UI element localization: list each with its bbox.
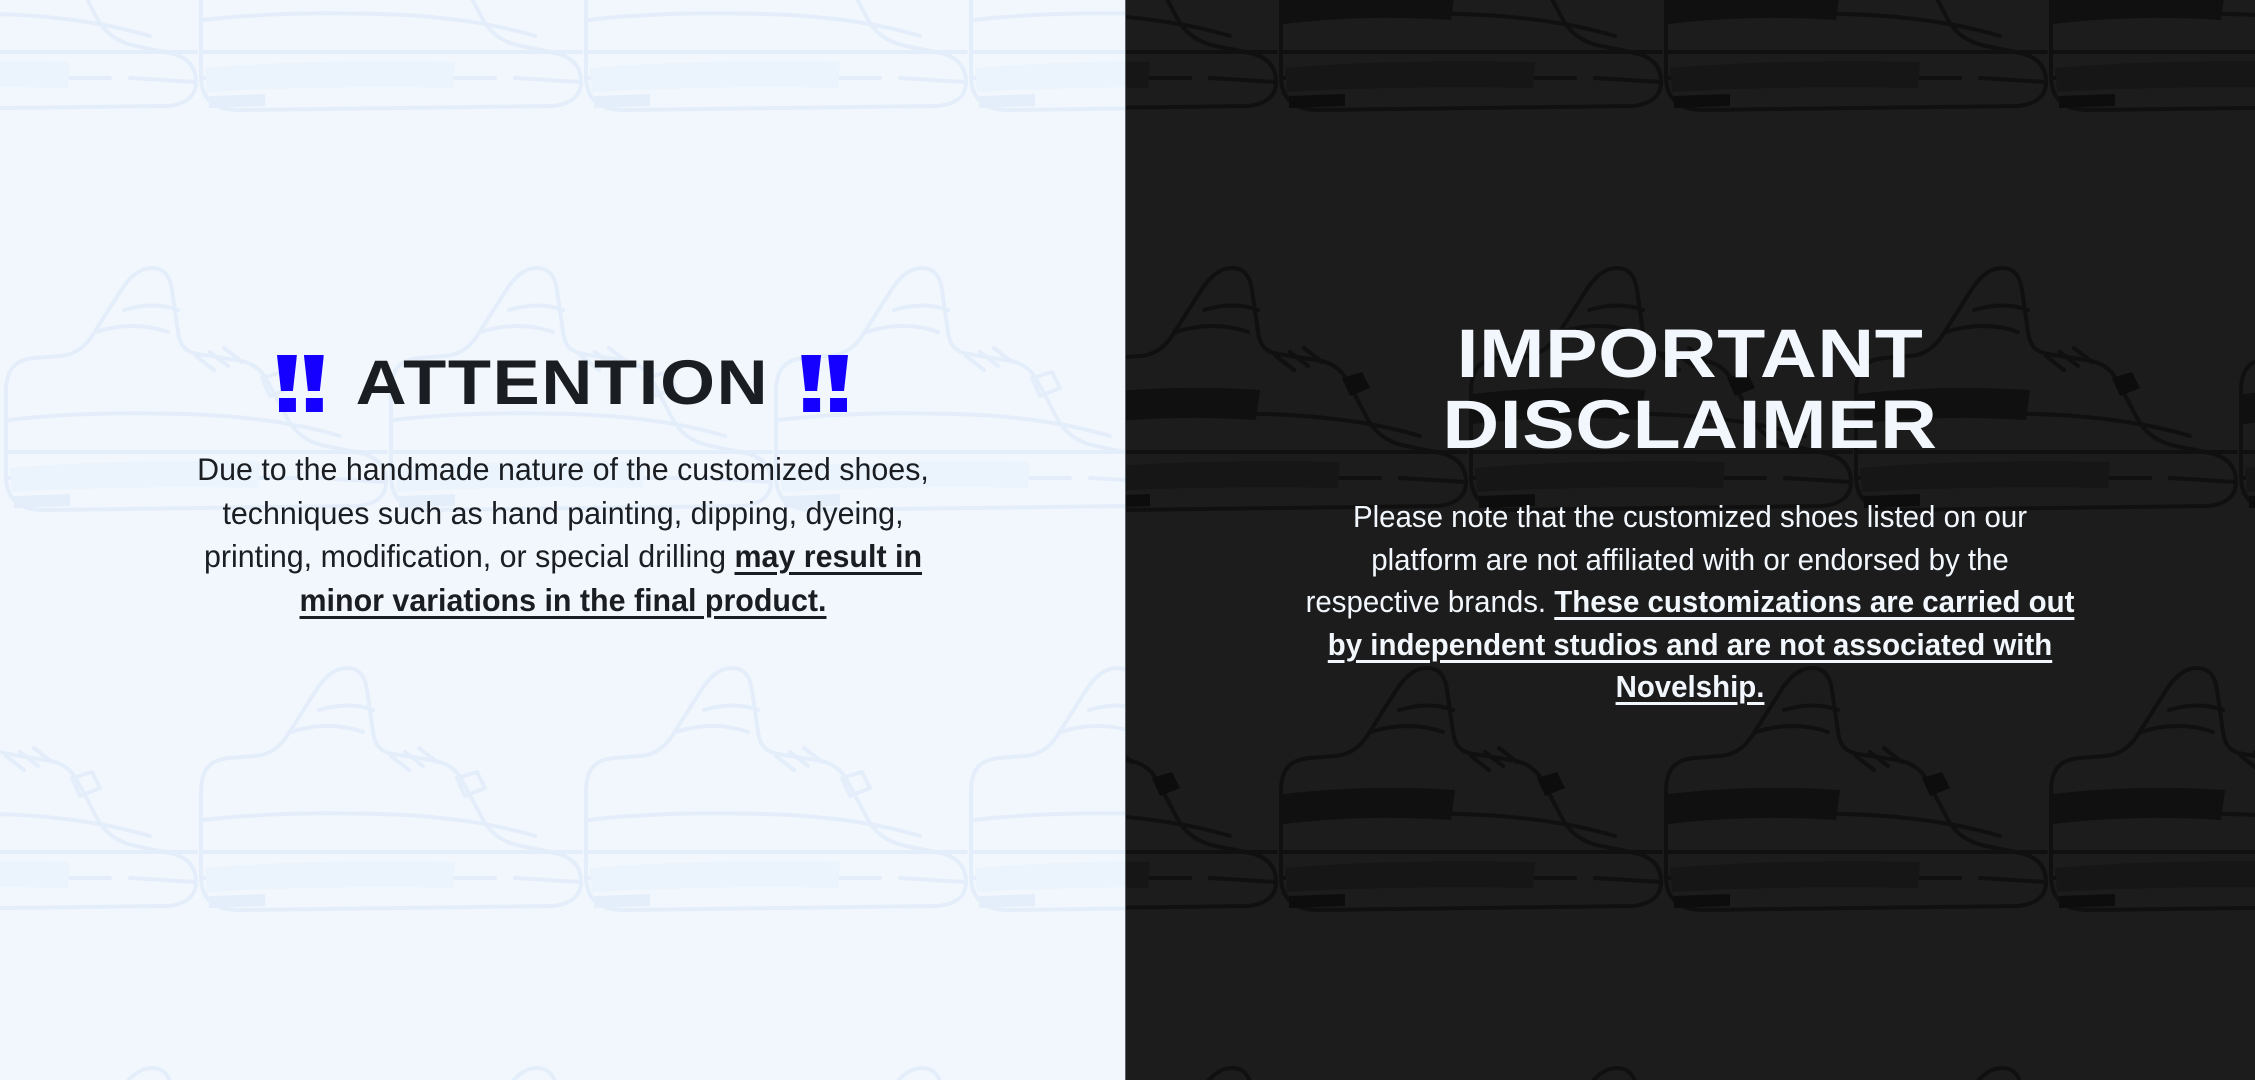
disclaimer-body: Please note that the customized shoes li… — [1304, 496, 2076, 709]
disclaimer-banner: ATTENTION Due to the handmade nature of … — [0, 0, 2255, 1080]
disclaimer-content: IMPORTANT DISCLAIMER Please note that th… — [1125, 0, 2255, 709]
attention-heading-text: ATTENTION — [356, 352, 770, 415]
double-exclamation-icon-right — [801, 355, 848, 412]
disclaimer-heading: IMPORTANT DISCLAIMER — [1125, 318, 2255, 460]
attention-panel: ATTENTION Due to the handmade nature of … — [0, 0, 1125, 1080]
panel-divider — [1125, 0, 1126, 1080]
attention-content: ATTENTION Due to the handmade nature of … — [0, 0, 1125, 622]
attention-body: Due to the handmade nature of the custom… — [181, 448, 943, 622]
disclaimer-heading-line-2: DISCLAIMER — [1125, 389, 2255, 460]
disclaimer-panel: IMPORTANT DISCLAIMER Please note that th… — [1125, 0, 2255, 1080]
disclaimer-heading-line-1: IMPORTANT — [1125, 318, 2255, 389]
double-exclamation-icon-left — [277, 355, 324, 412]
attention-heading: ATTENTION — [0, 352, 1125, 415]
